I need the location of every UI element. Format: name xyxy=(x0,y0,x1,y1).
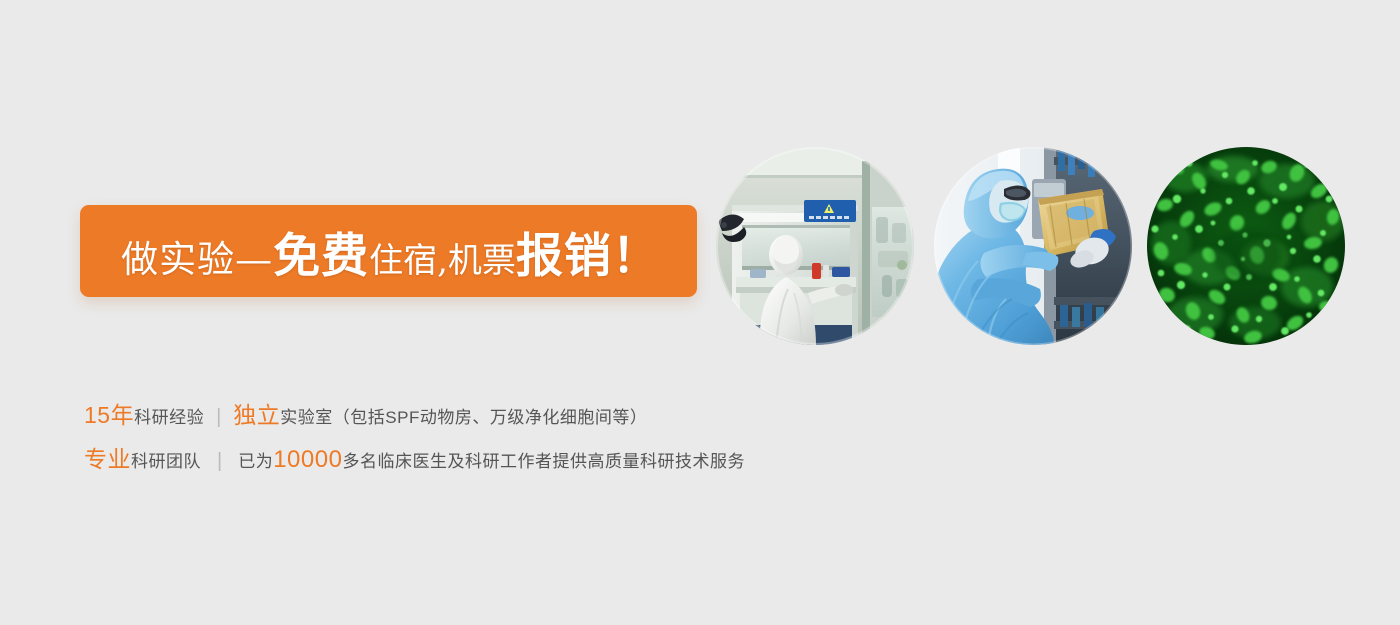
headline-highlight-1: 免费 xyxy=(273,217,369,286)
photo-cleanroom-biosafety-cabinet xyxy=(716,147,914,345)
headline-lead: 做实验— xyxy=(121,229,273,283)
feature-1-divider: | xyxy=(204,406,233,429)
feature-2-text-team: 科研团队 xyxy=(131,447,201,472)
promo-banner-page: 做实验— 免费 住宿,机票 报销！ xyxy=(0,0,1400,625)
warning-sign-graphic xyxy=(804,200,856,222)
photo-green-fluorescence-cells xyxy=(1147,147,1345,345)
feature-text-block: 15年 科研经验 | 独立 实验室（包括SPF动物房、万级净化细胞间等） 专业 … xyxy=(84,396,745,484)
feature-2-text-served: 已为 xyxy=(238,447,273,472)
feature-1-text-experience: 科研经验 xyxy=(134,403,204,428)
feature-1-accent-independent: 独立 xyxy=(233,396,280,430)
promo-headline-banner[interactable]: 做实验— 免费 住宿,机票 报销！ xyxy=(80,205,697,297)
promo-headline-text: 做实验— 免费 住宿,机票 报销！ xyxy=(80,217,697,286)
feature-1-accent-years: 15年 xyxy=(84,396,134,430)
photo-blue-suit-technician xyxy=(934,147,1132,345)
feature-2-accent-professional: 专业 xyxy=(84,440,131,474)
feature-1-text-lab: 实验室（包括SPF动物房、万级净化细胞间等） xyxy=(280,403,647,428)
feature-2-text-service: 多名临床医生及科研工作者提供高质量科研技术服务 xyxy=(342,447,745,472)
feature-line-1: 15年 科研经验 | 独立 实验室（包括SPF动物房、万级净化细胞间等） xyxy=(84,396,745,440)
feature-2-accent-count: 10000 xyxy=(273,446,342,474)
feature-line-2: 专业 科研团队 | 已为 10000 多名临床医生及科研工作者提供高质量科研技术… xyxy=(84,440,745,484)
headline-highlight-2: 报销！ xyxy=(516,217,660,286)
feature-2-divider: | xyxy=(201,450,238,473)
headline-middle: 住宿,机票 xyxy=(369,233,516,282)
